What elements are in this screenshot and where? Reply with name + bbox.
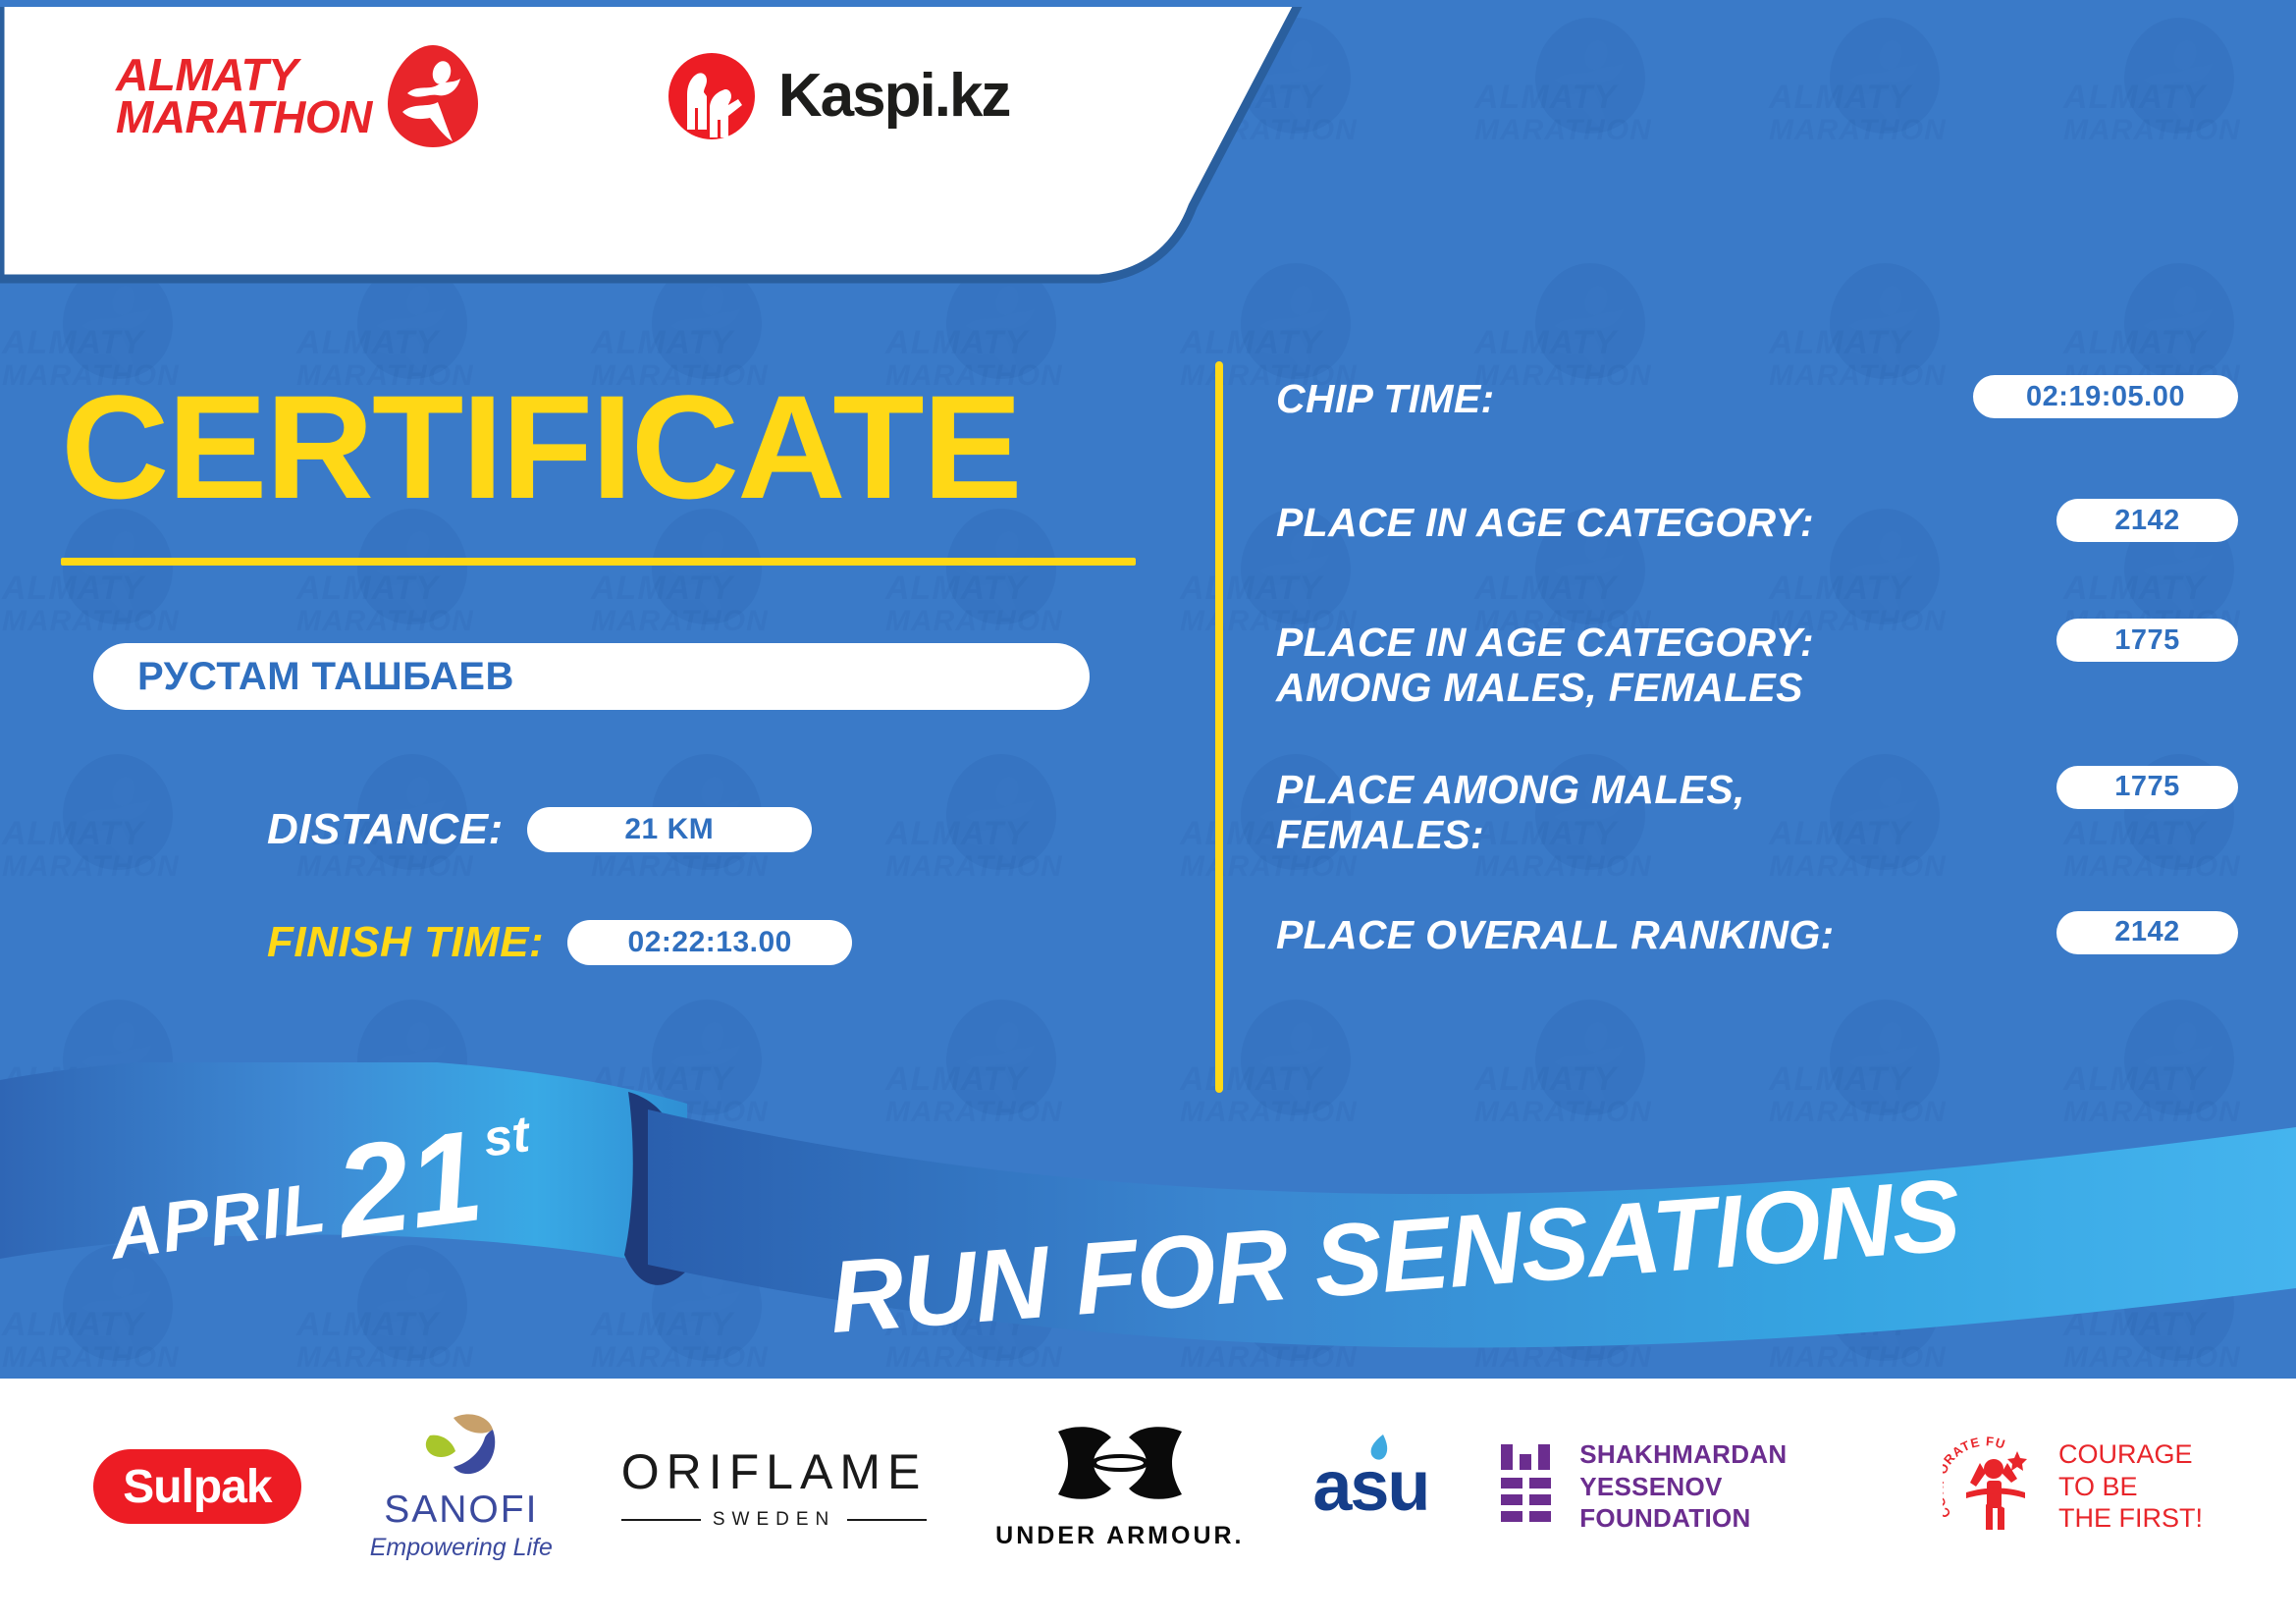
place-age-category-value: 2142 bbox=[2114, 505, 2180, 537]
ctbf-line1: COURAGE bbox=[2058, 1438, 2203, 1470]
oriflame-label: ORIFLAME bbox=[621, 1443, 928, 1500]
chip-time-value-pill: 02:19:05.00 bbox=[1973, 375, 2238, 418]
sponsor-yessenov-foundation: SHAKHMARDAN YESSENOV FOUNDATION bbox=[1497, 1438, 1874, 1535]
oriflame-rule-left bbox=[621, 1519, 701, 1521]
sponsor-asu: asu bbox=[1312, 1446, 1428, 1527]
sponsor-courage-to-be-first: CORPORATE FUND COURAGE TO BE THE FIRST! bbox=[1943, 1435, 2203, 1538]
top-border-rule bbox=[0, 0, 2296, 7]
stat-row: PLACE AMONG MALES, FEMALES: 1775 bbox=[1276, 764, 2238, 858]
place-age-category-value-pill: 2142 bbox=[2056, 499, 2238, 542]
ctbf-line3: THE FIRST! bbox=[2058, 1502, 2203, 1534]
sponsor-sanofi: SANOFI Empowering Life bbox=[370, 1412, 553, 1562]
place-age-category-among-label: PLACE IN AGE CATEGORY: AMONG MALES, FEMA… bbox=[1276, 617, 1924, 711]
sponsor-strip: Sulpak SANOFI Empowering Life ORIFLAME S… bbox=[0, 1379, 2296, 1624]
stats-panel: CHIP TIME: 02:19:05.00 PLACE IN AGE CATE… bbox=[1276, 373, 2238, 972]
finish-time-value-pill: 02:22:13.00 bbox=[567, 920, 852, 965]
courage-to-be-first-label: COURAGE TO BE THE FIRST! bbox=[2058, 1438, 2203, 1534]
place-among-males-females-label: PLACE AMONG MALES, FEMALES: bbox=[1276, 764, 1924, 858]
oriflame-sub: SWEDEN bbox=[621, 1509, 928, 1531]
sanofi-tagline: Empowering Life bbox=[370, 1534, 553, 1562]
distance-row: DISTANCE: 21 KM bbox=[267, 805, 812, 854]
sulpak-label: Sulpak bbox=[123, 1460, 271, 1514]
sponsor-sulpak: Sulpak bbox=[93, 1449, 301, 1524]
stat-row: PLACE OVERALL RANKING: 2142 bbox=[1276, 909, 2238, 972]
ctbf-line2: TO BE bbox=[2058, 1471, 2203, 1502]
stat-row: PLACE IN AGE CATEGORY: AMONG MALES, FEMA… bbox=[1276, 617, 2238, 711]
place-overall-ranking-value-pill: 2142 bbox=[2056, 911, 2238, 954]
sponsor-under-armour: UNDER ARMOUR. bbox=[995, 1424, 1244, 1550]
distance-value: 21 KM bbox=[624, 813, 714, 846]
finish-time-value: 02:22:13.00 bbox=[628, 926, 792, 959]
place-overall-ranking-label: PLACE OVERALL RANKING: bbox=[1276, 909, 1834, 958]
event-day: 21 bbox=[331, 1123, 487, 1245]
certificate-title-block: CERTIFICATE bbox=[61, 373, 1146, 566]
title-underline-rule bbox=[61, 558, 1136, 566]
participant-name-field: РУСТАМ ТАШБАЕВ bbox=[93, 643, 1090, 710]
under-armour-label: UNDER ARMOUR. bbox=[995, 1522, 1244, 1550]
finish-time-label: FINISH TIME: bbox=[267, 918, 544, 967]
yessenov-line1: SHAKHMARDAN YESSENOV bbox=[1579, 1438, 1874, 1502]
oriflame-tagline: SWEDEN bbox=[713, 1509, 835, 1531]
place-age-category-label: PLACE IN AGE CATEGORY: bbox=[1276, 497, 1814, 546]
sanofi-label: SANOFI bbox=[384, 1489, 538, 1532]
distance-label: DISTANCE: bbox=[267, 805, 504, 854]
chip-time-label: CHIP TIME: bbox=[1276, 373, 1494, 422]
vertical-divider bbox=[1215, 361, 1223, 1093]
certificate-canvas: ALMATY MARATHON ALMATY MARATHON bbox=[0, 0, 2296, 1624]
courage-to-be-first-logo: CORPORATE FUND bbox=[1943, 1435, 2045, 1538]
place-among-males-females-value: 1775 bbox=[2114, 771, 2180, 803]
chip-time-value: 02:19:05.00 bbox=[2026, 381, 2185, 413]
asu-droplet-icon bbox=[1367, 1433, 1391, 1466]
place-among-males-females-value-pill: 1775 bbox=[2056, 766, 2238, 809]
stat-row: CHIP TIME: 02:19:05.00 bbox=[1276, 373, 2238, 436]
distance-value-pill: 21 KM bbox=[527, 807, 812, 852]
yessenov-foundation-logo bbox=[1497, 1442, 1558, 1531]
place-age-category-among-value: 1775 bbox=[2114, 624, 2180, 657]
participant-name: РУСТАМ ТАШБАЕВ bbox=[137, 655, 514, 699]
stat-row: PLACE IN AGE CATEGORY: 2142 bbox=[1276, 497, 2238, 560]
asu-logo: asu bbox=[1312, 1446, 1428, 1527]
finish-time-row: FINISH TIME: 02:22:13.00 bbox=[267, 918, 852, 967]
oriflame-rule-right bbox=[847, 1519, 927, 1521]
sulpak-logo: Sulpak bbox=[93, 1449, 301, 1524]
place-overall-ranking-value: 2142 bbox=[2114, 916, 2180, 948]
yessenov-foundation-label: SHAKHMARDAN YESSENOV FOUNDATION bbox=[1579, 1438, 1874, 1535]
sanofi-logo bbox=[414, 1412, 508, 1485]
place-age-category-among-value-pill: 1775 bbox=[2056, 619, 2238, 662]
under-armour-logo bbox=[1046, 1424, 1194, 1514]
page-title: CERTIFICATE bbox=[61, 373, 1167, 520]
event-day-suffix: st bbox=[481, 1109, 533, 1165]
sponsor-oriflame: ORIFLAME SWEDEN bbox=[621, 1443, 928, 1531]
yessenov-line2: FOUNDATION bbox=[1579, 1502, 1874, 1535]
